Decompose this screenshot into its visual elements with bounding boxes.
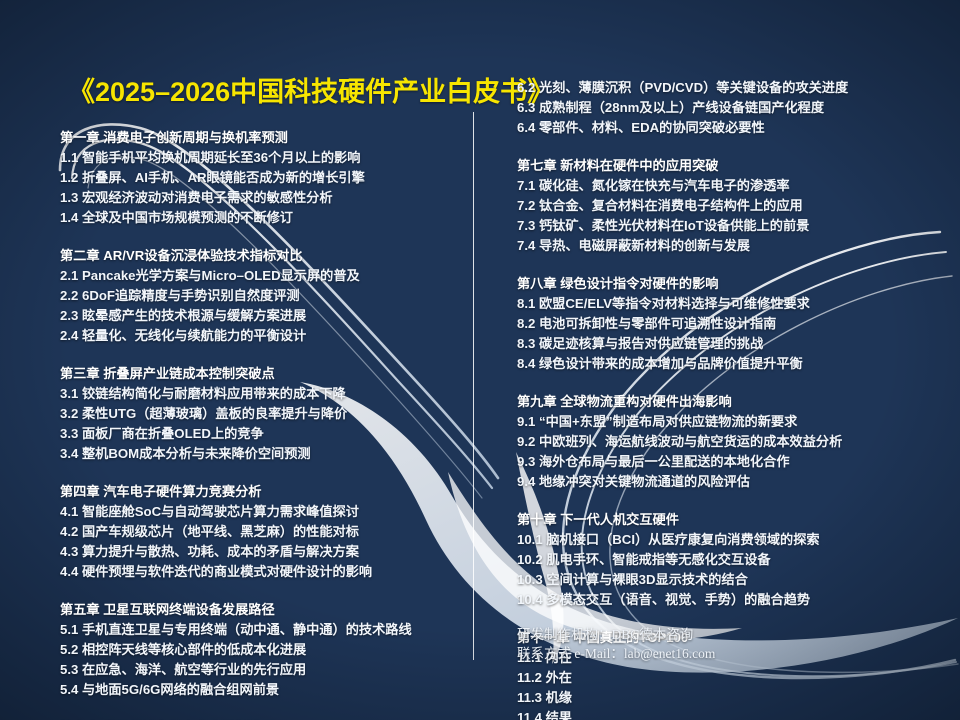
- chapter-heading: 第五章 卫星互联网终端设备发展路径: [60, 600, 460, 620]
- chapter-item: 1.2 折叠屏、AI手机、AR眼镜能否成为新的增长引擎: [60, 168, 460, 188]
- chapter-block: 第五章 卫星互联网终端设备发展路径5.1 手机直连卫星与专用终端（动中通、静中通…: [60, 600, 460, 700]
- chapter-item: 5.2 相控阵天线等核心部件的低成本化进展: [60, 640, 460, 660]
- chapter-block: 第四章 汽车电子硬件算力竞赛分析4.1 智能座舱SoC与自动驾驶芯片算力需求峰值…: [60, 482, 460, 582]
- chapter-item: 2.1 Pancake光学方案与Micro–OLED显示屏的普及: [60, 266, 460, 286]
- chapter-item: 4.1 智能座舱SoC与自动驾驶芯片算力需求峰值探讨: [60, 502, 460, 522]
- footer-producer: 研发制作机构：DBC德本咨询: [517, 625, 715, 644]
- chapter-item: 10.4 多模态交互（语音、视觉、手势）的融合趋势: [517, 590, 937, 610]
- chapter-heading: 第七章 新材料在硬件中的应用突破: [517, 156, 937, 176]
- poster-canvas: 《2025–2026中国科技硬件产业白皮书》 第一章 消费电子创新周期与换机率预…: [0, 0, 960, 720]
- chapter-heading: 第四章 汽车电子硬件算力竞赛分析: [60, 482, 460, 502]
- chapter-item: 4.4 硬件预埋与软件迭代的商业模式对硬件设计的影响: [60, 562, 460, 582]
- chapter-item: 7.2 钛合金、复合材料在消费电子结构件上的应用: [517, 196, 937, 216]
- chapter-item: 3.4 整机BOM成本分析与未来降价空间预测: [60, 444, 460, 464]
- toc-left-column: 第一章 消费电子创新周期与换机率预测1.1 智能手机平均换机周期延长至36个月以…: [60, 128, 460, 720]
- chapter-heading: 第一章 消费电子创新周期与换机率预测: [60, 128, 460, 148]
- chapter-item: 2.2 6DoF追踪精度与手势识别自然度评测: [60, 286, 460, 306]
- chapter-item: 9.2 中欧班列、海运航线波动与航空货运的成本效益分析: [517, 432, 937, 452]
- chapter-item: 2.3 眩晕感产生的技术根源与缓解方案进展: [60, 306, 460, 326]
- chapter-block: 第三章 折叠屏产业链成本控制突破点3.1 铰链结构简化与耐磨材料应用带来的成本下…: [60, 364, 460, 464]
- chapter-item: 11.2 外在: [517, 668, 937, 688]
- chapter-item: 10.1 脑机接口（BCI）从医疗康复向消费领域的探索: [517, 530, 937, 550]
- footer-contact: 联系方式 e-Mail：lab@enet16.com: [517, 644, 715, 663]
- chapter-item: 9.4 地缘冲突对关键物流通道的风险评估: [517, 472, 937, 492]
- chapter-item: 9.3 海外仓布局与最后一公里配送的本地化合作: [517, 452, 937, 472]
- chapter-item: 8.3 碳足迹核算与报告对供应链管理的挑战: [517, 334, 937, 354]
- chapter-item: 11.3 机缘: [517, 688, 937, 708]
- chapter-item: 10.2 肌电手环、智能戒指等无感化交互设备: [517, 550, 937, 570]
- chapter-item: 4.2 国产车规级芯片（地平线、黑芝麻）的性能对标: [60, 522, 460, 542]
- chapter-block: 第十章 下一代人机交互硬件10.1 脑机接口（BCI）从医疗康复向消费领域的探索…: [517, 510, 937, 610]
- chapter-item: 5.1 手机直连卫星与专用终端（动中通、静中通）的技术路线: [60, 620, 460, 640]
- footer-block: 研发制作机构：DBC德本咨询 联系方式 e-Mail：lab@enet16.co…: [517, 625, 715, 663]
- chapter-item: 1.1 智能手机平均换机周期延长至36个月以上的影响: [60, 148, 460, 168]
- chapter-heading: 第八章 绿色设计指令对硬件的影响: [517, 274, 937, 294]
- chapter-item: 8.4 绿色设计带来的成本增加与品牌价值提升平衡: [517, 354, 937, 374]
- page-title: 《2025–2026中国科技硬件产业白皮书》: [68, 70, 554, 109]
- chapter-item: 8.1 欧盟CE/ELV等指令对材料选择与可维修性要求: [517, 294, 937, 314]
- chapter-item: 1.4 全球及中国市场规模预测的不断修订: [60, 208, 460, 228]
- chapter-item: 6.4 零部件、材料、EDA的协同突破必要性: [517, 118, 937, 138]
- chapter-block: 第一章 消费电子创新周期与换机率预测1.1 智能手机平均换机周期延长至36个月以…: [60, 128, 460, 228]
- chapter-item: 6.3 成熟制程（28nm及以上）产线设备链国产化程度: [517, 98, 937, 118]
- chapter-item: 5.4 与地面5G/6G网络的融合组网前景: [60, 680, 460, 700]
- chapter-item: 11.4 结果: [517, 708, 937, 720]
- chapter-item: 7.4 导热、电磁屏蔽新材料的创新与发展: [517, 236, 937, 256]
- chapter-item: 8.2 电池可拆卸性与零部件可追溯性设计指南: [517, 314, 937, 334]
- chapter-item: 4.3 算力提升与散热、功耗、成本的矛盾与解决方案: [60, 542, 460, 562]
- chapter-block: 第八章 绿色设计指令对硬件的影响8.1 欧盟CE/ELV等指令对材料选择与可维修…: [517, 274, 937, 374]
- chapter-item: 7.1 碳化硅、氮化镓在快充与汽车电子的渗透率: [517, 176, 937, 196]
- chapter-block: 第二章 AR/VR设备沉浸体验技术指标对比2.1 Pancake光学方案与Mic…: [60, 246, 460, 346]
- toc-right-column: 6.2 光刻、薄膜沉积（PVD/CVD）等关键设备的攻关进度6.3 成熟制程（2…: [517, 78, 937, 720]
- chapter-continuation: 6.2 光刻、薄膜沉积（PVD/CVD）等关键设备的攻关进度6.3 成熟制程（2…: [517, 78, 937, 138]
- chapter-item: 9.1 “中国+东盟”制造布局对供应链物流的新要求: [517, 412, 937, 432]
- chapter-item: 7.3 钙钛矿、柔性光伏材料在IoT设备供能上的前景: [517, 216, 937, 236]
- chapter-heading: 第十章 下一代人机交互硬件: [517, 510, 937, 530]
- chapter-item: 3.1 铰链结构简化与耐磨材料应用带来的成本下降: [60, 384, 460, 404]
- chapter-item: 3.3 面板厂商在折叠OLED上的竞争: [60, 424, 460, 444]
- chapter-heading: 第三章 折叠屏产业链成本控制突破点: [60, 364, 460, 384]
- chapter-item: 3.2 柔性UTG（超薄玻璃）盖板的良率提升与降价: [60, 404, 460, 424]
- chapter-item: 2.4 轻量化、无线化与续航能力的平衡设计: [60, 326, 460, 346]
- chapter-heading: 第二章 AR/VR设备沉浸体验技术指标对比: [60, 246, 460, 266]
- chapter-item: 1.3 宏观经济波动对消费电子需求的敏感性分析: [60, 188, 460, 208]
- chapter-item: 5.3 在应急、海洋、航空等行业的先行应用: [60, 660, 460, 680]
- chapter-block: 第七章 新材料在硬件中的应用突破7.1 碳化硅、氮化镓在快充与汽车电子的渗透率7…: [517, 156, 937, 256]
- chapter-heading: 第九章 全球物流重构对硬件出海影响: [517, 392, 937, 412]
- chapter-item: 10.3 空间计算与裸眼3D显示技术的结合: [517, 570, 937, 590]
- column-divider: [473, 112, 474, 660]
- chapter-block: 第九章 全球物流重构对硬件出海影响9.1 “中国+东盟”制造布局对供应链物流的新…: [517, 392, 937, 492]
- chapter-item: 6.2 光刻、薄膜沉积（PVD/CVD）等关键设备的攻关进度: [517, 78, 937, 98]
